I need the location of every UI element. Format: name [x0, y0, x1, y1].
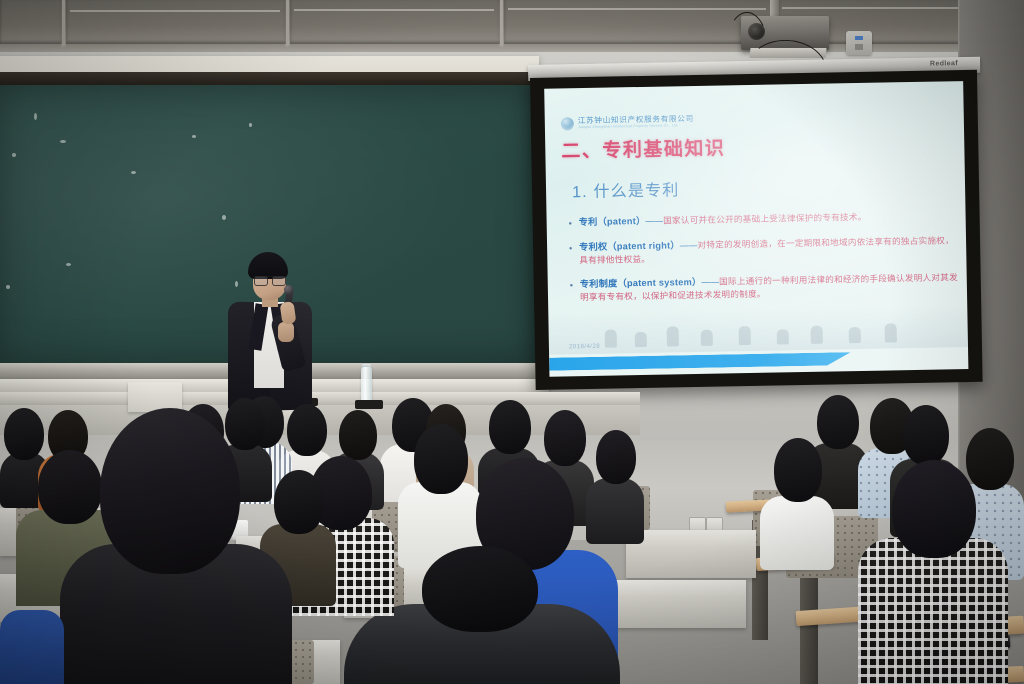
bullet-dash: —— — [645, 216, 663, 226]
audience-member — [760, 438, 834, 568]
presenter-hand — [278, 322, 294, 342]
presenter-hair — [248, 252, 288, 279]
bullet-dash: —— — [701, 276, 719, 286]
presenter — [226, 252, 318, 410]
ceiling-slot — [70, 10, 280, 12]
microphone-head-icon — [284, 285, 293, 294]
slide-title: 二、专利基础知识 — [561, 133, 725, 163]
person-head — [422, 546, 538, 632]
lecture-hall-photo: Redleaf 江苏钟山知识产权服务有限公司 Jiangsu Zhongshan… — [0, 0, 1024, 684]
slide-bullet: • 专利制度（patent system）——国际上通行的一种利用法律的和经济的… — [570, 271, 960, 303]
control-box-slot — [855, 44, 863, 50]
person-head — [287, 404, 327, 456]
bullet-dot-icon: • — [569, 216, 579, 231]
slide-bullet: • 专利（patent）——国家认可并在公开的基础上受法律保护的专有技术。 — [569, 209, 959, 231]
bullet-term: 专利制度（patent system） — [580, 277, 702, 289]
ceiling-rib — [286, 0, 289, 46]
ceiling-rib — [500, 0, 503, 46]
projection-screen: 江苏钟山知识产权服务有限公司 Jiangsu Zhongshan Intelle… — [530, 70, 983, 390]
slide-surface: 江苏钟山知识产权服务有限公司 Jiangsu Zhongshan Intelle… — [544, 81, 968, 377]
bullet-term: 专利（patent） — [579, 216, 646, 227]
desk-object — [355, 400, 383, 409]
bench-row — [600, 580, 746, 628]
glasses-lens-icon — [272, 276, 286, 286]
slide-bullet-list: • 专利（patent）——国家认可并在公开的基础上受法律保护的专有技术。 • … — [569, 209, 961, 314]
water-bottle — [361, 367, 372, 403]
glasses-lens-icon — [254, 276, 268, 286]
slide-logo: 江苏钟山知识产权服务有限公司 Jiangsu Zhongshan Intelle… — [561, 115, 694, 130]
person-head — [774, 438, 822, 502]
slide-accent-bar — [549, 352, 851, 371]
audience-member — [0, 610, 64, 684]
bullet-explanation: 国家认可并在公开的基础上受法律保护的专有技术。 — [663, 212, 867, 226]
person-head — [892, 460, 976, 558]
slide-bullet: • 专利权（patent right）——对特定的发明创造，在一定期限和地域内依… — [569, 235, 959, 267]
audience-member-foreground-left — [60, 408, 292, 684]
projector-control-box[interactable] — [846, 31, 872, 55]
person-head — [100, 408, 240, 574]
ceiling-panel — [66, 0, 286, 44]
slide-date-stamp: 2018/4/28 — [569, 343, 600, 351]
person-torso — [0, 610, 64, 684]
slide-photo-strip — [548, 305, 968, 355]
ceiling-panel — [290, 0, 500, 44]
ceiling-rib — [62, 0, 65, 46]
bullet-dot-icon: • — [570, 278, 580, 303]
person-torso — [760, 496, 834, 570]
ceiling-slot — [294, 9, 494, 11]
audience-member — [858, 460, 1008, 684]
status-led-icon — [855, 36, 863, 40]
person-head — [903, 405, 949, 465]
chalkboard-top-rail — [0, 72, 539, 85]
slide-subtitle: 1. 什么是专利 — [572, 176, 680, 202]
person-torso-plaid — [858, 538, 1008, 684]
ceiling-slot — [508, 8, 766, 10]
ceiling-panel — [0, 0, 62, 44]
bullet-term: 专利权（patent right） — [579, 241, 680, 253]
bullet-dash: —— — [680, 240, 698, 250]
person-head — [489, 400, 531, 454]
person-head — [339, 410, 377, 460]
bullet-dot-icon: • — [569, 242, 579, 267]
screen-brand-label: Redleaf — [930, 60, 958, 68]
company-name-en: Jiangsu Zhongshan Intellectual Property … — [578, 124, 694, 130]
bench-row — [626, 530, 756, 578]
company-logo-icon — [561, 117, 574, 130]
